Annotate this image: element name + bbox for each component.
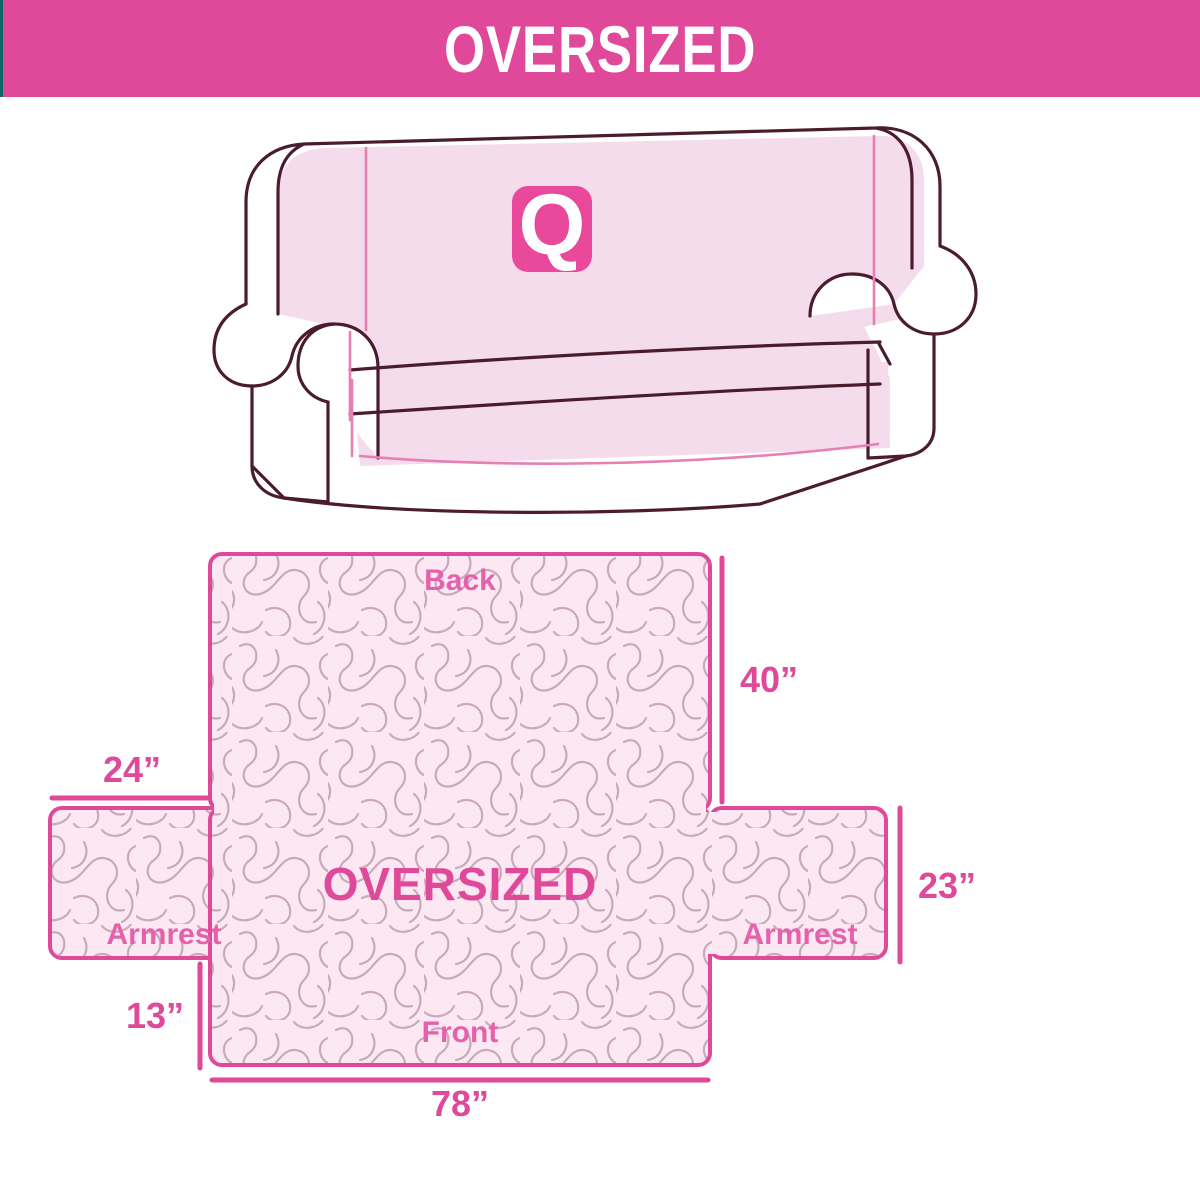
dim-label-back-depth: 24” xyxy=(103,749,161,790)
page-title: OVERSIZED xyxy=(444,16,756,82)
sofa-left-arm-inner xyxy=(292,324,378,458)
banner-edge-accent xyxy=(0,0,3,97)
dim-label-front-height: 13” xyxy=(126,995,184,1036)
layout-svg: Back Armrest Armrest OVERSIZED Front 24”… xyxy=(40,540,1160,1120)
product-size-diagram: OVERSIZED xyxy=(0,0,1200,1200)
panel-label-armrest-left: Armrest xyxy=(106,918,221,951)
panel-label-back: Back xyxy=(424,564,496,597)
sofa-left-arm xyxy=(214,304,292,386)
q-logo-letter: Q xyxy=(519,177,586,273)
q-logo-badge: Q xyxy=(512,177,592,273)
dim-label-armrest-height: 23” xyxy=(918,865,976,906)
flat-layout-diagram: Back Armrest Armrest OVERSIZED Front 24”… xyxy=(0,540,1200,1140)
panel-label-armrest-right: Armrest xyxy=(742,918,857,951)
dim-label-width: 78” xyxy=(431,1083,489,1120)
sofa-left-arm-front xyxy=(252,386,328,502)
panel-label-center: OVERSIZED xyxy=(323,858,598,910)
panel-label-front: Front xyxy=(422,1016,499,1049)
sofa-svg: Q xyxy=(200,118,1000,518)
sofa-illustration: Q xyxy=(0,118,1200,518)
dim-label-back-height: 40” xyxy=(740,659,798,700)
header-banner: OVERSIZED xyxy=(0,0,1200,97)
